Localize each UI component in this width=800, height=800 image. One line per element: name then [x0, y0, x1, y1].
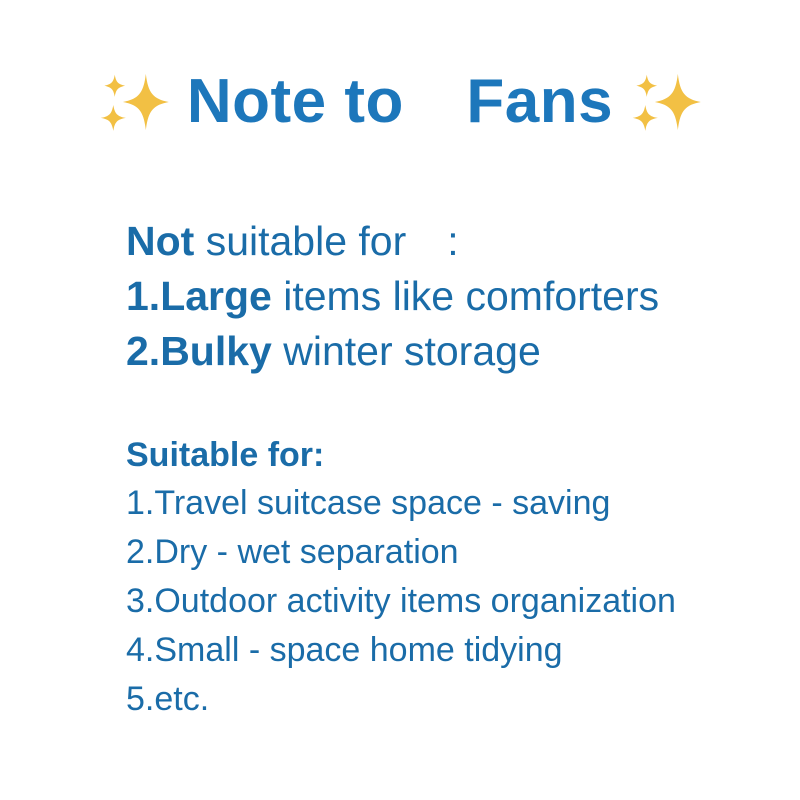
- note-to-fans-poster: Note to Fans Not suitable for : 1.Large …: [0, 0, 800, 800]
- not-suitable-item-1-rest: items like comforters: [272, 273, 659, 319]
- suitable-item-2: 2.Dry - wet separation: [126, 528, 746, 577]
- poster-header: Note to Fans: [0, 57, 800, 147]
- not-suitable-section: Not suitable for : 1.Large items like co…: [126, 214, 746, 379]
- not-suitable-heading-bold: Not: [126, 218, 194, 264]
- suitable-item-3: 3.Outdoor activity items organization: [126, 577, 746, 626]
- suitable-section: Suitable for: 1.Travel suitcase space - …: [126, 432, 746, 724]
- suitable-heading: Suitable for:: [126, 432, 746, 479]
- page-title: Note to Fans: [187, 71, 613, 133]
- not-suitable-heading: Not suitable for :: [126, 214, 746, 269]
- sparkles-icon-right: [629, 65, 703, 139]
- not-suitable-item-1-bold: 1.Large: [126, 273, 272, 319]
- suitable-item-5: 5.etc.: [126, 675, 746, 724]
- sparkles-icon-left: [97, 65, 171, 139]
- not-suitable-item-2: 2.Bulky winter storage: [126, 324, 746, 379]
- not-suitable-item-2-bold: 2.Bulky: [126, 328, 272, 374]
- not-suitable-item-2-rest: winter storage: [272, 328, 541, 374]
- not-suitable-heading-rest: suitable for :: [194, 218, 458, 264]
- not-suitable-item-1: 1.Large items like comforters: [126, 269, 746, 324]
- suitable-item-4: 4.Small - space home tidying: [126, 626, 746, 675]
- suitable-item-1: 1.Travel suitcase space - saving: [126, 479, 746, 528]
